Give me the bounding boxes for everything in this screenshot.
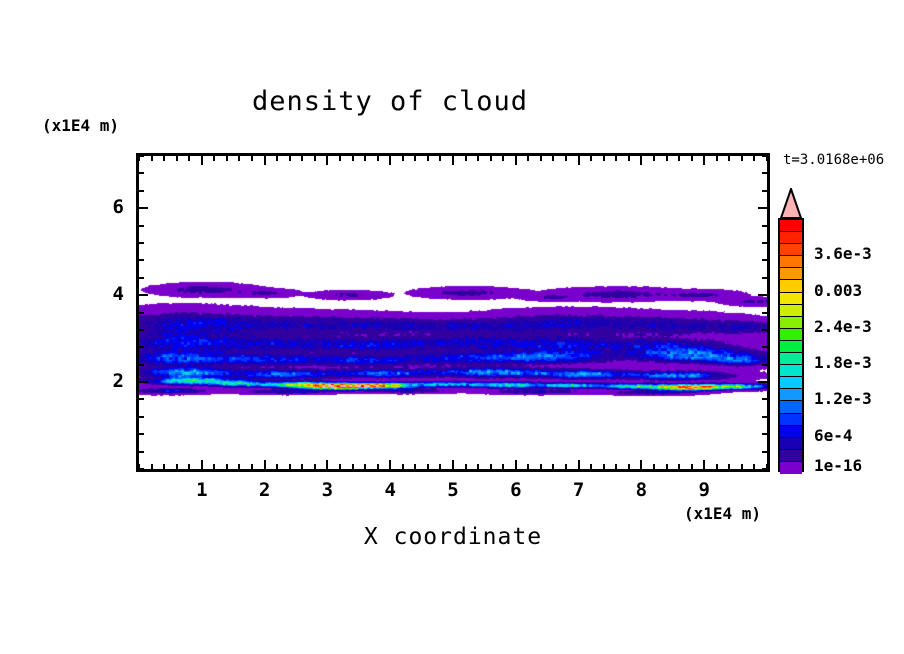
x-axis-tick-label: 7: [559, 479, 599, 501]
x-axis-minor-tick-top: [276, 156, 278, 161]
x-axis-minor-tick: [352, 464, 354, 469]
y-axis-tick-label: 6: [84, 196, 124, 218]
y-axis-minor-tick-right: [762, 346, 767, 348]
colorbar-band: [780, 268, 802, 280]
timestamp-annotation: t=3.0168e+06: [783, 152, 884, 168]
x-axis-minor-tick: [565, 464, 567, 469]
x-axis-minor-tick: [490, 464, 492, 469]
y-axis-major-tick-right: [758, 207, 767, 209]
colorbar-band: [780, 220, 802, 232]
x-axis-major-tick: [389, 460, 391, 469]
y-axis-minor-tick: [139, 172, 144, 174]
x-axis-minor-tick-top: [628, 156, 630, 161]
x-axis-minor-tick: [427, 464, 429, 469]
colorbar-tick-label: 1e-16: [814, 456, 862, 475]
x-axis-major-tick: [703, 460, 705, 469]
x-axis-minor-tick: [176, 464, 178, 469]
x-axis-minor-tick-top: [251, 156, 253, 161]
x-axis-minor-tick-top: [653, 156, 655, 161]
x-axis-minor-tick-top: [226, 156, 228, 161]
x-axis-tick-label: 5: [433, 479, 473, 501]
x-axis-minor-tick: [213, 464, 215, 469]
x-axis-minor-tick-top: [615, 156, 617, 161]
x-axis-minor-tick-top: [666, 156, 668, 161]
x-axis-major-tick: [264, 460, 266, 469]
x-axis-tick-label: 1: [182, 479, 222, 501]
x-axis-minor-tick-top: [716, 156, 718, 161]
x-axis-minor-tick: [628, 464, 630, 469]
z-axis-unit-label: (x1E4 m): [42, 116, 119, 135]
x-axis-major-tick-top: [703, 156, 705, 165]
x-axis-minor-tick-top: [691, 156, 693, 161]
y-axis-minor-tick-right: [762, 451, 767, 453]
y-axis-minor-tick: [139, 468, 144, 470]
x-axis-major-tick: [452, 460, 454, 469]
x-axis-tick-label: 9: [684, 479, 724, 501]
y-axis-minor-tick: [139, 433, 144, 435]
x-axis-minor-tick-top: [477, 156, 479, 161]
x-axis-minor-tick: [439, 464, 441, 469]
x-axis-minor-tick: [251, 464, 253, 469]
x-axis-minor-tick: [615, 464, 617, 469]
colorbar-tick-label: 1.2e-3: [814, 389, 872, 408]
y-axis-minor-tick: [139, 416, 144, 418]
x-axis-minor-tick: [590, 464, 592, 469]
colorbar-band: [780, 280, 802, 292]
x-axis-minor-tick: [276, 464, 278, 469]
y-axis-minor-tick: [139, 155, 144, 157]
x-axis-minor-tick-top: [151, 156, 153, 161]
y-axis-minor-tick-right: [762, 433, 767, 435]
colorbar-band: [780, 426, 802, 438]
y-axis-minor-tick: [139, 225, 144, 227]
colorbar-band: [780, 377, 802, 389]
x-axis-tick-label: 4: [370, 479, 410, 501]
x-axis-minor-tick: [527, 464, 529, 469]
colorbar-band: [780, 365, 802, 377]
x-axis-minor-tick: [741, 464, 743, 469]
y-axis-minor-tick-right: [762, 242, 767, 244]
x-axis-minor-tick-top: [213, 156, 215, 161]
y-axis-minor-tick-right: [762, 225, 767, 227]
x-axis-major-tick-top: [201, 156, 203, 165]
y-axis-minor-tick: [139, 451, 144, 453]
y-axis-minor-tick-right: [762, 155, 767, 157]
y-axis-minor-tick: [139, 242, 144, 244]
x-axis-minor-tick: [540, 464, 542, 469]
colorbar-band: [780, 401, 802, 413]
x-axis-minor-tick-top: [603, 156, 605, 161]
x-axis-minor-tick-top: [741, 156, 743, 161]
x-axis-tick-label: 3: [307, 479, 347, 501]
x-axis-minor-tick-top: [163, 156, 165, 161]
x-axis-minor-tick-top: [414, 156, 416, 161]
y-axis-minor-tick-right: [762, 277, 767, 279]
colorbar-tick-label: 2.4e-3: [814, 317, 872, 336]
x-axis-minor-tick-top: [314, 156, 316, 161]
x-axis-major-tick-top: [264, 156, 266, 165]
y-axis-minor-tick: [139, 259, 144, 261]
x-axis-major-tick: [326, 460, 328, 469]
x-axis-major-tick-top: [452, 156, 454, 165]
x-axis-minor-tick-top: [552, 156, 554, 161]
x-axis-minor-tick-top: [176, 156, 178, 161]
colorbar-band: [780, 438, 802, 450]
x-axis-minor-tick: [678, 464, 680, 469]
x-axis-minor-tick: [691, 464, 693, 469]
x-axis-minor-tick: [728, 464, 730, 469]
x-axis-minor-tick-top: [188, 156, 190, 161]
colorbar-band: [780, 353, 802, 365]
y-axis-minor-tick-right: [762, 259, 767, 261]
y-axis-minor-tick-right: [762, 398, 767, 400]
x-axis-minor-tick: [414, 464, 416, 469]
y-axis-minor-tick-right: [762, 416, 767, 418]
x-axis-minor-tick-top: [465, 156, 467, 161]
x-axis-minor-tick: [364, 464, 366, 469]
colorbar-band: [780, 329, 802, 341]
x-axis-minor-tick-top: [728, 156, 730, 161]
x-axis-minor-tick-top: [301, 156, 303, 161]
x-axis-major-tick: [201, 460, 203, 469]
x-axis-minor-tick: [339, 464, 341, 469]
x-axis-minor-tick: [238, 464, 240, 469]
y-axis-minor-tick: [139, 329, 144, 331]
x-axis-tick-label: 2: [245, 479, 285, 501]
x-axis-unit-label: (x1E4 m): [684, 504, 761, 523]
colorbar-band: [780, 256, 802, 268]
x-axis-major-tick-top: [578, 156, 580, 165]
contour-heatmap: [139, 156, 767, 469]
y-axis-minor-tick: [139, 277, 144, 279]
x-axis-minor-tick: [477, 464, 479, 469]
x-axis-minor-tick: [502, 464, 504, 469]
x-axis-major-tick: [515, 460, 517, 469]
x-axis-minor-tick: [188, 464, 190, 469]
x-axis-minor-tick-top: [339, 156, 341, 161]
x-axis-minor-tick-top: [590, 156, 592, 161]
x-axis-minor-tick: [402, 464, 404, 469]
x-axis-minor-tick-top: [439, 156, 441, 161]
x-axis-major-tick-top: [389, 156, 391, 165]
x-axis-minor-tick: [666, 464, 668, 469]
colorbar-band: [780, 450, 802, 462]
colorbar-band: [780, 389, 802, 401]
page-title: density of cloud: [0, 86, 780, 117]
y-axis-minor-tick: [139, 398, 144, 400]
colorbar-overflow-cap: [778, 188, 804, 220]
x-axis-minor-tick: [314, 464, 316, 469]
x-axis-tick-label: 8: [621, 479, 661, 501]
x-axis-minor-tick: [465, 464, 467, 469]
y-axis-major-tick: [139, 381, 148, 383]
colorbar-band: [780, 244, 802, 256]
x-axis-minor-tick-top: [502, 156, 504, 161]
x-axis-minor-tick: [653, 464, 655, 469]
colorbar-band: [780, 305, 802, 317]
colorbar-band: [780, 232, 802, 244]
y-axis-minor-tick: [139, 312, 144, 314]
colorbar-overflow-triangle: [781, 189, 801, 218]
y-axis-major-tick: [139, 294, 148, 296]
colorbar-bands: [778, 218, 804, 472]
x-axis-minor-tick-top: [527, 156, 529, 161]
y-axis-minor-tick-right: [762, 329, 767, 331]
x-axis-minor-tick: [151, 464, 153, 469]
x-axis-minor-tick-top: [352, 156, 354, 161]
x-axis-minor-tick-top: [490, 156, 492, 161]
x-axis-major-tick-top: [640, 156, 642, 165]
x-axis-minor-tick: [753, 464, 755, 469]
x-axis-minor-tick: [289, 464, 291, 469]
x-axis-title: X coordinate: [136, 524, 770, 550]
colorbar-band: [780, 293, 802, 305]
y-axis-minor-tick-right: [762, 172, 767, 174]
y-axis-minor-tick: [139, 364, 144, 366]
x-axis-minor-tick: [377, 464, 379, 469]
x-axis-minor-tick-top: [402, 156, 404, 161]
y-axis-minor-tick-right: [762, 190, 767, 192]
colorbar-tick-label: 1.8e-3: [814, 353, 872, 372]
x-axis-minor-tick-top: [364, 156, 366, 161]
y-axis-tick-label: 2: [84, 370, 124, 392]
colorbar-band: [780, 414, 802, 426]
plot-area: [136, 153, 770, 472]
x-axis-minor-tick: [716, 464, 718, 469]
x-axis-minor-tick-top: [540, 156, 542, 161]
x-axis-minor-tick: [226, 464, 228, 469]
y-axis-major-tick-right: [758, 294, 767, 296]
y-axis-minor-tick: [139, 190, 144, 192]
x-axis-minor-tick: [301, 464, 303, 469]
x-axis-major-tick-top: [515, 156, 517, 165]
colorbar-band: [780, 341, 802, 353]
y-axis-minor-tick-right: [762, 312, 767, 314]
x-axis-minor-tick: [163, 464, 165, 469]
x-axis-minor-tick-top: [238, 156, 240, 161]
colorbar-tick-label: 6e-4: [814, 426, 853, 445]
y-axis-minor-tick-right: [762, 364, 767, 366]
x-axis-minor-tick: [603, 464, 605, 469]
x-axis-major-tick-top: [326, 156, 328, 165]
colorbar-band: [780, 317, 802, 329]
y-axis-minor-tick-right: [762, 468, 767, 470]
x-axis-minor-tick-top: [427, 156, 429, 161]
x-axis-minor-tick-top: [289, 156, 291, 161]
y-axis-tick-label: 4: [84, 283, 124, 305]
x-axis-major-tick: [640, 460, 642, 469]
x-axis-minor-tick-top: [377, 156, 379, 161]
x-axis-minor-tick-top: [753, 156, 755, 161]
x-axis-minor-tick: [552, 464, 554, 469]
colorbar-band: [780, 462, 802, 474]
x-axis-minor-tick-top: [565, 156, 567, 161]
y-axis-major-tick: [139, 207, 148, 209]
y-axis-minor-tick: [139, 346, 144, 348]
x-axis-minor-tick-top: [678, 156, 680, 161]
y-axis-major-tick-right: [758, 381, 767, 383]
x-axis-tick-label: 6: [496, 479, 536, 501]
colorbar-tick-label: 0.003: [814, 281, 862, 300]
x-axis-major-tick: [578, 460, 580, 469]
colorbar-tick-label: 3.6e-3: [814, 244, 872, 263]
